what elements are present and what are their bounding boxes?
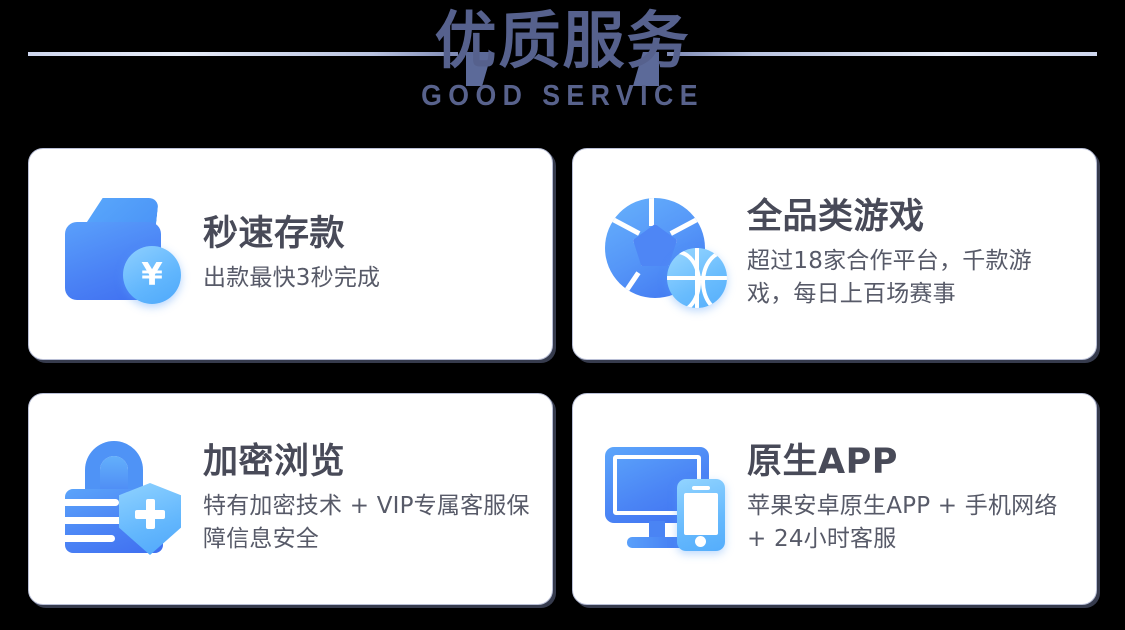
card-description: 出款最快3秒完成 (203, 262, 380, 295)
monitor-phone-icon (597, 439, 747, 559)
card-text-block: 加密浏览 特有加密技术 + VIP专属客服保障信息安全 (203, 442, 551, 556)
card-title: 加密浏览 (203, 442, 533, 483)
basketball-icon (667, 248, 727, 308)
lock-shield-icon (53, 439, 203, 559)
card-title: 秒速存款 (203, 214, 380, 255)
yen-symbol: ¥ (141, 260, 163, 291)
card-description: 特有加密技术 + VIP专属客服保障信息安全 (203, 490, 533, 555)
title-block: 优质服务 GOOD SERVICE (0, 0, 1125, 113)
page-subtitle: GOOD SERVICE (45, 72, 1080, 113)
card-text-block: 全品类游戏 超过18家合作平台，千款游戏，每日上百场赛事 (747, 197, 1095, 311)
service-card-encryption[interactable]: 加密浏览 特有加密技术 + VIP专属客服保障信息安全 (28, 393, 553, 605)
soccer-basketball-icon (597, 194, 747, 314)
page-title: 优质服务 (0, 0, 1125, 72)
card-title: 原生APP (747, 442, 1077, 483)
card-title: 全品类游戏 (747, 197, 1077, 238)
service-card-grid: ¥ 秒速存款 出款最快3秒完成 (28, 148, 1097, 605)
card-description: 苹果安卓原生APP + 手机网络 + 24小时客服 (747, 490, 1077, 555)
plus-icon (135, 499, 165, 529)
service-card-native-app[interactable]: 原生APP 苹果安卓原生APP + 手机网络 + 24小时客服 (572, 393, 1097, 605)
page-header: 优质服务 GOOD SERVICE (0, 0, 1125, 140)
yen-coin-icon: ¥ (123, 246, 181, 304)
card-text-block: 秒速存款 出款最快3秒完成 (203, 214, 398, 295)
wallet-yen-icon: ¥ (53, 194, 203, 314)
card-text-block: 原生APP 苹果安卓原生APP + 手机网络 + 24小时客服 (747, 442, 1095, 556)
card-description: 超过18家合作平台，千款游戏，每日上百场赛事 (747, 245, 1077, 310)
smartphone-icon (677, 479, 725, 551)
service-card-deposit[interactable]: ¥ 秒速存款 出款最快3秒完成 (28, 148, 553, 360)
service-card-games[interactable]: 全品类游戏 超过18家合作平台，千款游戏，每日上百场赛事 (572, 148, 1097, 360)
